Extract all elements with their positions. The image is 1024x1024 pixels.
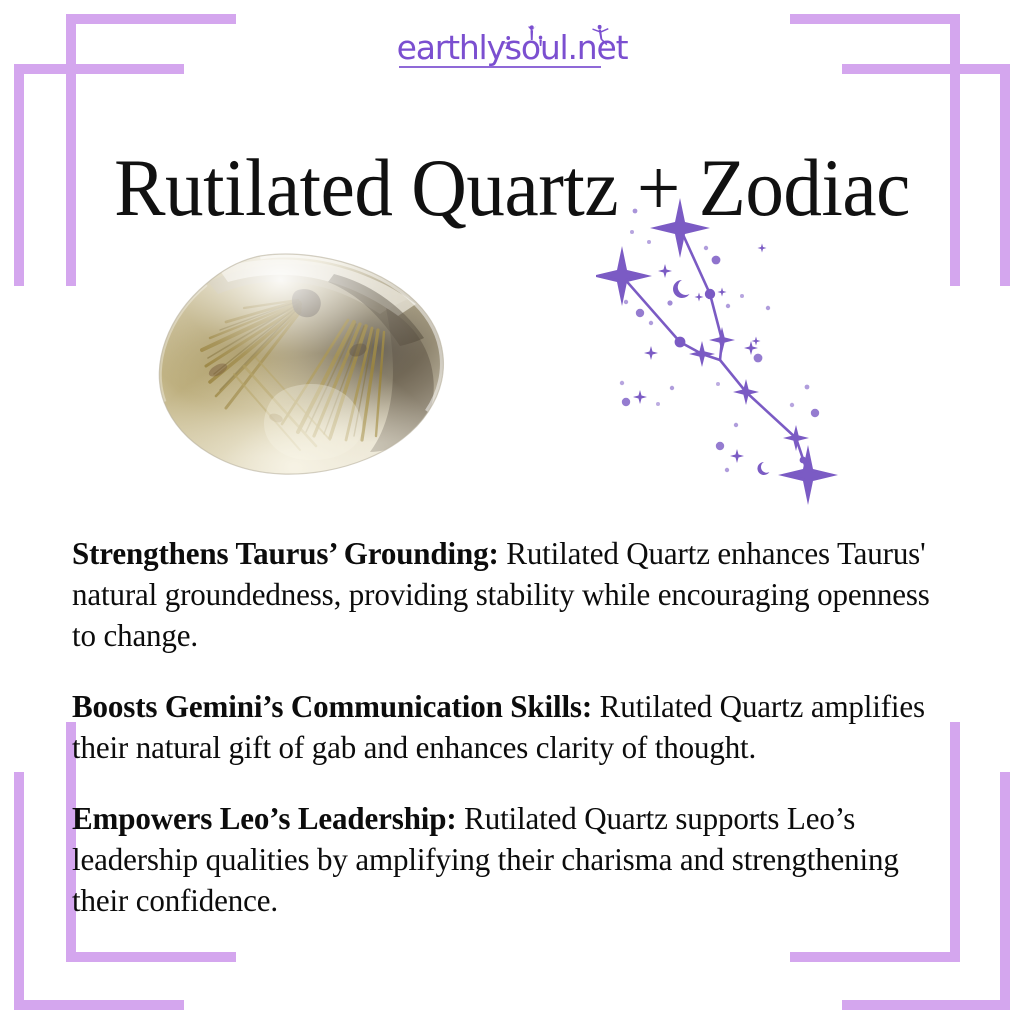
page-title: Rutilated Quartz + Zodiac [31, 141, 994, 235]
rutilated-quartz-image [148, 246, 464, 486]
benefits-list: Strengthens Taurus’ Grounding: Rutilated… [72, 534, 944, 922]
benefit-item-1: Boosts Gemini’s Communication Skills: Ru… [72, 687, 931, 769]
benefit-heading-2: Empowers Leo’s Leadership: [72, 801, 457, 836]
benefit-item-2: Empowers Leo’s Leadership: Rutilated Qua… [72, 799, 931, 922]
site-logo-text: earthlysoul.net [397, 31, 628, 64]
infographic-page: earthlysoul.net [0, 0, 1024, 1024]
benefit-heading-1: Boosts Gemini’s Communication Skills: [72, 689, 592, 724]
benefit-item-0: Strengthens Taurus’ Grounding: Rutilated… [72, 534, 931, 657]
site-logo[interactable]: earthlysoul.net [0, 18, 1024, 64]
taurus-constellation-graphic [596, 198, 848, 510]
benefit-heading-0: Strengthens Taurus’ Grounding: [72, 536, 499, 571]
